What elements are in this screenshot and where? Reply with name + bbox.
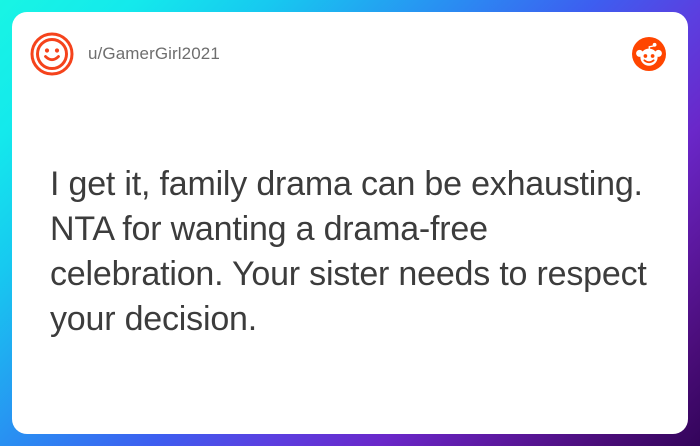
comment-text: I get it, family drama can be exhausting…	[50, 162, 656, 342]
card-header: u/GamerGirl2021	[12, 12, 688, 96]
username-label: u/GamerGirl2021	[88, 44, 220, 64]
reddit-snoo-icon[interactable]	[632, 37, 666, 71]
gradient-background: u/GamerGirl2021 I get it,	[0, 0, 700, 446]
avatar-smiley-icon[interactable]	[30, 32, 74, 76]
reddit-comment-card: u/GamerGirl2021 I get it,	[12, 12, 688, 434]
